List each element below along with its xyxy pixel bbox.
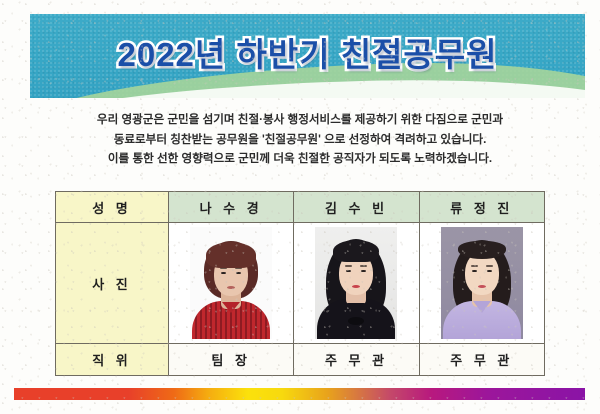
portrait-photo-3 bbox=[441, 227, 523, 339]
brow-right-2 bbox=[360, 265, 367, 267]
table-row-position: 직 위 팀 장 주 무 관 주 무 관 bbox=[56, 344, 545, 376]
intro-line-2: 동료로부터 칭찬받는 공무원을 '친절공무원' 으로 선정하여 격려하고 있습니… bbox=[34, 130, 566, 150]
fringe-shape-2 bbox=[333, 240, 379, 262]
brow-right-3 bbox=[486, 265, 493, 267]
footer-gradient-bar bbox=[14, 388, 585, 400]
eye-left-2 bbox=[346, 270, 351, 272]
portrait-photo-2 bbox=[315, 227, 397, 339]
cell-name-2: 김 수 빈 bbox=[294, 192, 419, 223]
cell-name-3: 류 정 진 bbox=[419, 192, 544, 223]
eye-left-3 bbox=[472, 270, 477, 272]
row-label-name: 성 명 bbox=[56, 192, 169, 223]
cell-photo-3 bbox=[419, 223, 544, 344]
table-row-photo: 사 진 bbox=[56, 223, 545, 344]
collar-shape-3 bbox=[473, 301, 491, 313]
row-label-position: 직 위 bbox=[56, 344, 169, 376]
eye-right-3 bbox=[487, 270, 492, 272]
lips-3 bbox=[478, 285, 486, 288]
page-title: 2022년 하반기 친절공무원 bbox=[30, 28, 585, 76]
cell-photo-2 bbox=[294, 223, 419, 344]
lips-2 bbox=[352, 285, 360, 288]
row-label-photo: 사 진 bbox=[56, 223, 169, 344]
fringe-shape-1 bbox=[206, 242, 256, 268]
eye-right-1 bbox=[236, 272, 241, 274]
header-banner: 2022년 하반기 친절공무원 bbox=[30, 14, 585, 98]
cell-name-1: 나 수 경 bbox=[169, 192, 294, 223]
eye-right-2 bbox=[361, 270, 366, 272]
intro-line-1: 우리 영광군은 군민을 섬기며 친절·봉사 행정서비스를 제공하기 위한 다짐으… bbox=[34, 110, 566, 130]
collar-shape-2 bbox=[347, 303, 365, 313]
brow-left-2 bbox=[345, 265, 352, 267]
portrait-photo-1 bbox=[190, 227, 272, 339]
cell-photo-1 bbox=[169, 223, 294, 344]
collar-shape-1 bbox=[222, 302, 240, 313]
brow-left-3 bbox=[471, 265, 478, 267]
cell-position-3: 주 무 관 bbox=[419, 344, 544, 376]
intro-line-3: 이를 통한 선한 영향력으로 군민께 더욱 친절한 공직자가 되도록 노력하겠습… bbox=[34, 149, 566, 169]
lips-1 bbox=[227, 286, 235, 289]
eye-left-1 bbox=[221, 272, 226, 274]
table-row-name: 성 명 나 수 경 김 수 빈 류 정 진 bbox=[56, 192, 545, 223]
cell-position-1: 팀 장 bbox=[169, 344, 294, 376]
cell-position-2: 주 무 관 bbox=[294, 344, 419, 376]
bow-tie-shape-2 bbox=[348, 317, 364, 325]
fringe-shape-3 bbox=[458, 241, 506, 259]
intro-paragraph: 우리 영광군은 군민을 섬기며 친절·봉사 행정서비스를 제공하기 위한 다짐으… bbox=[34, 110, 566, 169]
kind-officer-table: 성 명 나 수 경 김 수 빈 류 정 진 사 진 bbox=[55, 191, 545, 376]
